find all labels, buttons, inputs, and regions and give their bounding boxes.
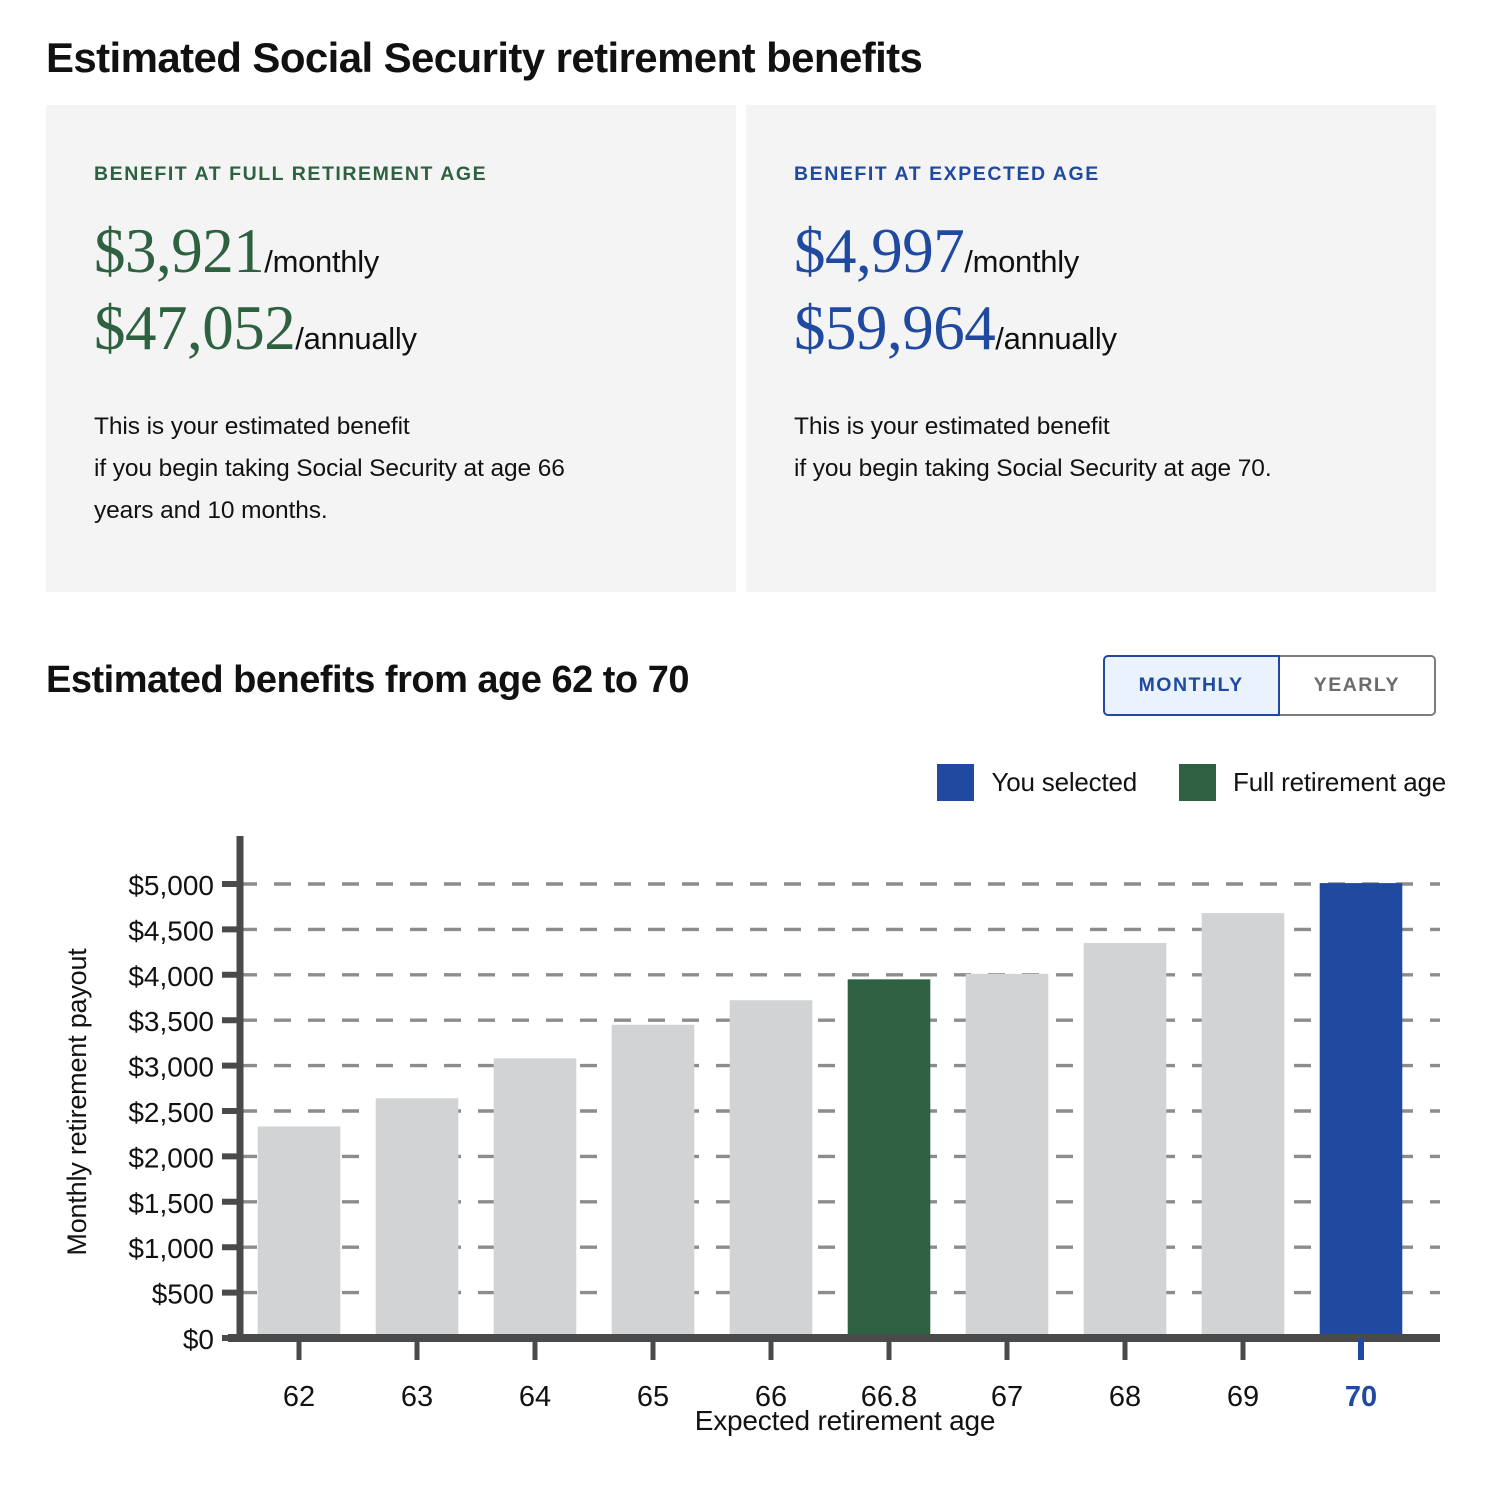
y-tick-label: $4,000 — [128, 961, 214, 992]
bar[interactable] — [966, 974, 1049, 1338]
y-tick-label: $0 — [183, 1324, 214, 1355]
y-tick-label: $500 — [152, 1279, 214, 1310]
bar[interactable] — [494, 1058, 577, 1338]
y-tick-label: $2,000 — [128, 1142, 214, 1173]
x-axis-title: Expected retirement age — [240, 1405, 1450, 1437]
social-security-benefits-page: Estimated Social Security retirement ben… — [0, 0, 1490, 1488]
bar[interactable] — [730, 1000, 813, 1338]
y-tick-label: $5,000 — [128, 870, 214, 901]
bar[interactable] — [612, 1025, 695, 1338]
bar-chart: $0$500$1,000$1,500$2,000$2,500$3,000$3,5… — [0, 0, 1490, 1488]
bar[interactable] — [376, 1098, 459, 1338]
bar[interactable] — [1084, 943, 1167, 1338]
toggle-monthly[interactable]: MONTHLY — [1103, 655, 1280, 716]
y-tick-label: $2,500 — [128, 1097, 214, 1128]
y-tick-label: $3,500 — [128, 1006, 214, 1037]
bar[interactable] — [1202, 913, 1285, 1338]
y-tick-label: $4,500 — [128, 915, 214, 946]
bar[interactable] — [1320, 883, 1403, 1338]
bar[interactable] — [848, 979, 931, 1338]
y-tick-label: $3,000 — [128, 1052, 214, 1083]
y-tick-label: $1,500 — [128, 1188, 214, 1219]
y-tick-label: $1,000 — [128, 1233, 214, 1264]
bar[interactable] — [258, 1126, 341, 1338]
